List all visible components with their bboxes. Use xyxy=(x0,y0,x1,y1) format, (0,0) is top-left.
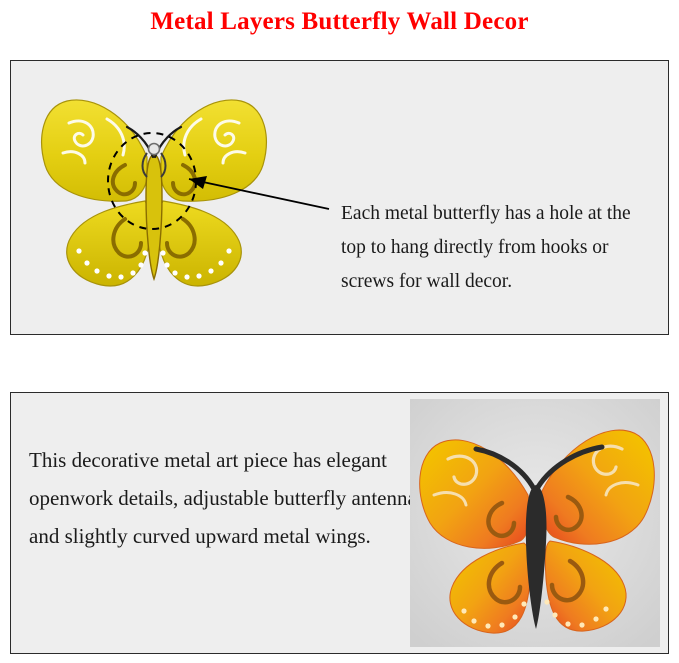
orange-yellow-butterfly-photo xyxy=(410,399,660,647)
product-description-panel: This decorative metal art piece has eleg… xyxy=(10,392,669,654)
hanging-hole-callout-text: Each metal butterfly has a hole at the t… xyxy=(341,197,651,299)
product-description-text: This decorative metal art piece has eleg… xyxy=(29,441,429,555)
page-title: Metal Layers Butterfly Wall Decor xyxy=(0,8,679,36)
product-info-page: Metal Layers Butterfly Wall Decor xyxy=(0,0,679,663)
hanging-hole-panel: Each metal butterfly has a hole at the t… xyxy=(10,60,669,335)
yellow-butterfly-illustration xyxy=(29,79,279,309)
